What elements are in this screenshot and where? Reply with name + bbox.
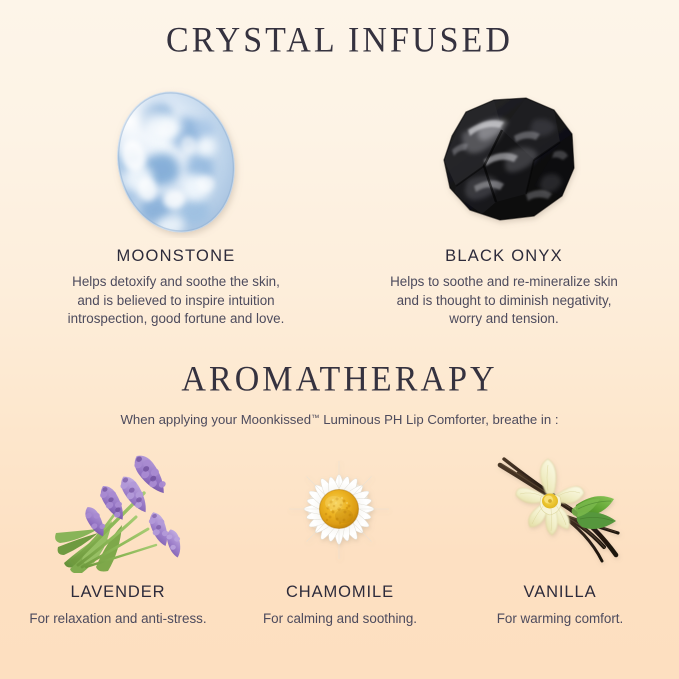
crystal-name-moonstone: MOONSTONE [16, 247, 336, 266]
subtitle-text-after-trademark: Luminous PH Lip Comforter, breathe in : [320, 412, 559, 427]
description-line: Helps to soothe and re-mineralize skin [344, 273, 664, 292]
lavender-image-stage [7, 443, 229, 581]
description-line: introspection, good fortune and love. [16, 310, 336, 329]
aroma-name-vanilla: VANILLA [449, 583, 671, 602]
aroma-name-chamomile: CHAMOMILE [229, 583, 451, 602]
chamomile-image-stage [229, 443, 451, 581]
description-line: worry and tension. [344, 310, 664, 329]
vanilla-flower-pods-icon [492, 451, 628, 571]
aroma-column-lavender: LAVENDER For relaxation and anti-stress. [7, 443, 229, 626]
aroma-column-chamomile: CHAMOMILE For calming and soothing. [229, 443, 451, 626]
moonstone-cabochon-icon [96, 86, 256, 238]
aroma-name-lavender: LAVENDER [7, 583, 229, 602]
vanilla-image-stage [449, 443, 671, 581]
description-line: Helps detoxify and soothe the skin, [16, 273, 336, 292]
aroma-description-vanilla: For warming comfort. [449, 611, 671, 626]
aroma-description-lavender: For relaxation and anti-stress. [7, 611, 229, 626]
description-line: and is thought to diminish negativity, [344, 292, 664, 311]
aromatherapy-subtitle: When applying your Moonkissed™ Luminous … [0, 412, 679, 427]
crystal-name-black-onyx: BLACK ONYX [344, 247, 664, 266]
crystal-description-moonstone: Helps detoxify and soothe the skin, and … [16, 273, 336, 329]
black-onyx-rough-stone-icon [422, 90, 592, 230]
chamomile-flower-icon [277, 449, 403, 573]
aroma-column-vanilla: VANILLA For warming comfort. [449, 443, 671, 626]
black-onyx-image-stage [344, 78, 664, 238]
description-line: and is believed to inspire intuition [16, 292, 336, 311]
subtitle-text-before-trademark: When applying your Moonkissed [120, 412, 311, 427]
crystal-description-black-onyx: Helps to soothe and re-mineralize skin a… [344, 273, 664, 329]
aroma-description-chamomile: For calming and soothing. [229, 611, 451, 626]
moonstone-image-stage [16, 78, 336, 238]
infographic-page: CRYSTAL INFUSED [0, 0, 679, 679]
lavender-sprig-icon [52, 447, 184, 573]
crystal-column-black-onyx: BLACK ONYX Helps to soothe and re-minera… [344, 78, 664, 329]
crystal-column-moonstone: MOONSTONE Helps detoxify and soothe the … [16, 78, 336, 329]
trademark-icon: ™ [311, 412, 320, 422]
aromatherapy-heading: AROMATHERAPY [0, 360, 679, 400]
crystal-infused-heading: CRYSTAL INFUSED [0, 21, 679, 61]
